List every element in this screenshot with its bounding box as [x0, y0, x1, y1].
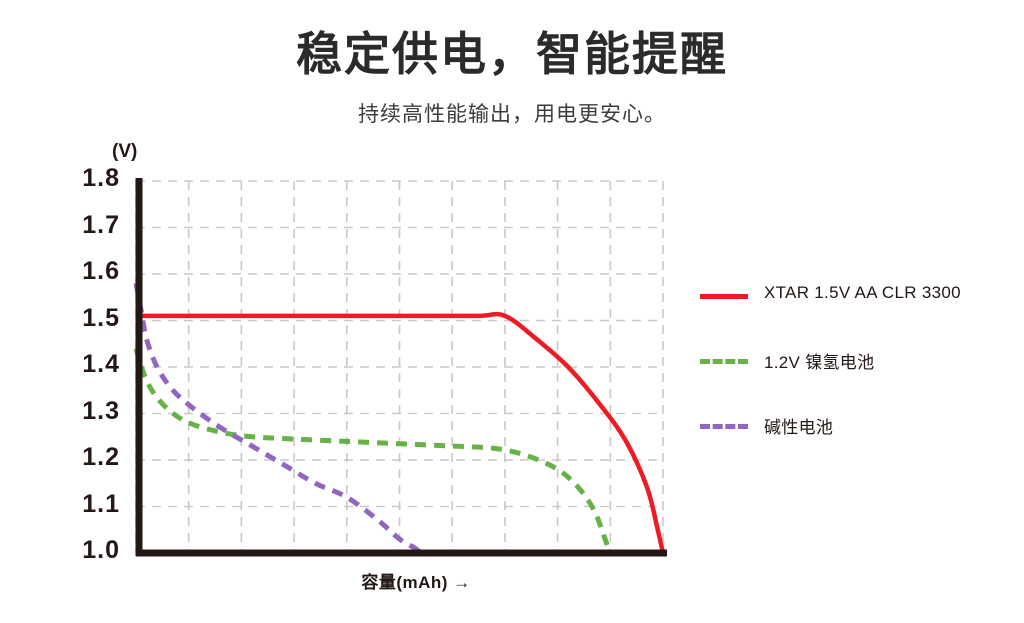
y-tick-label: 1.2 [62, 443, 120, 472]
y-tick-label: 1.8 [62, 164, 120, 193]
legend-swatch-nimh [700, 359, 748, 364]
y-axis-unit-label: (V) [112, 141, 137, 163]
y-tick-label: 1.6 [62, 257, 120, 286]
y-tick-label: 1.3 [62, 397, 120, 426]
legend-label-xtar: XTAR 1.5V AA CLR 3300 [764, 283, 961, 303]
y-tick-label: 1.4 [62, 350, 120, 379]
gridlines [136, 181, 663, 553]
x-axis-title: 容量(mAh) → [236, 568, 596, 593]
series-line-1 [136, 348, 610, 553]
battery-discharge-chart: (V) 1.81.71.61.51.41.31.21.11.0 容量(mAh) … [0, 0, 1024, 623]
y-tick-label: 1.7 [62, 211, 120, 240]
chart-svg [0, 0, 1024, 623]
y-tick-label: 1.5 [62, 304, 120, 333]
y-tick-label: 1.0 [62, 536, 120, 565]
legend-swatch-xtar [700, 294, 748, 299]
series-lines [136, 283, 663, 553]
legend-label-nimh: 1.2V 镍氢电池 [764, 348, 874, 373]
legend-label-alkaline: 碱性电池 [764, 413, 833, 438]
legend-swatch-alkaline [700, 424, 748, 429]
y-tick-label: 1.1 [62, 490, 120, 519]
